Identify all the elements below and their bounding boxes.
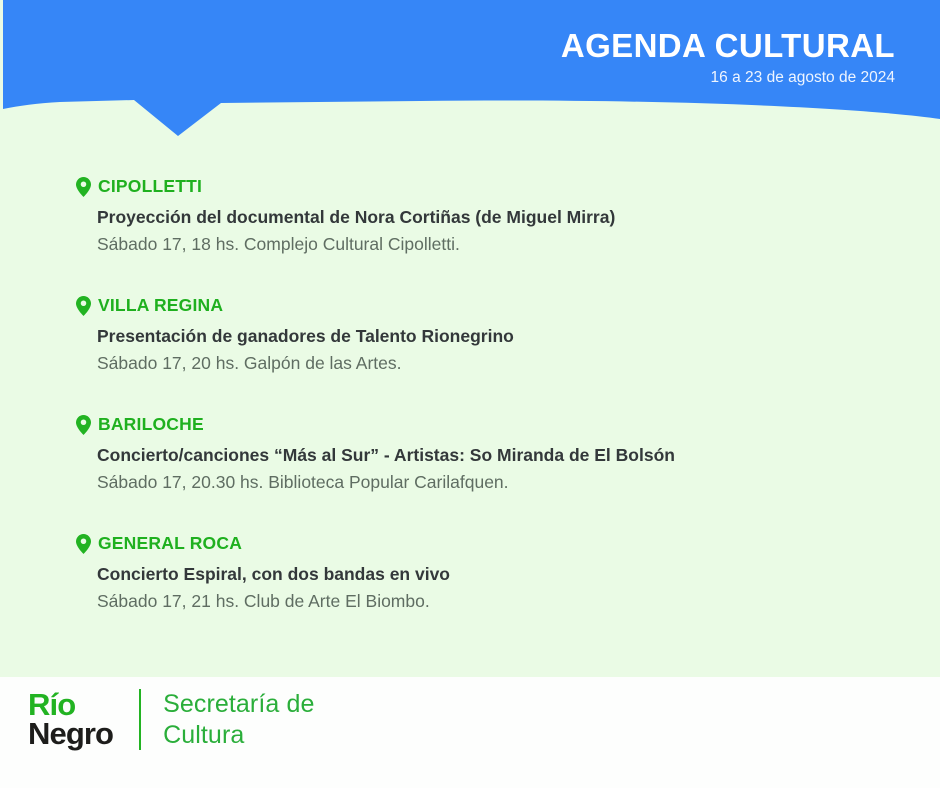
- location-pin-icon: [76, 177, 91, 197]
- poster-footer: Río Negro Secretaría de Cultura: [0, 677, 940, 788]
- event-city-row: BARILOCHE: [76, 414, 940, 436]
- events-list: CIPOLLETTI Proyección del documental de …: [0, 176, 940, 652]
- page-date-range: 16 a 23 de agosto de 2024: [561, 69, 895, 88]
- event-detail: Sábado 17, 20 hs. Galpón de las Artes.: [97, 353, 940, 374]
- secretaria-cultura-label: Secretaría de Cultura: [163, 689, 314, 750]
- event-city-name: BARILOCHE: [98, 416, 204, 434]
- event-detail: Sábado 17, 21 hs. Club de Arte El Biombo…: [97, 591, 940, 612]
- secretaria-line-1: Secretaría de: [163, 689, 314, 720]
- event-item: GENERAL ROCA Concierto Espiral, con dos …: [0, 533, 940, 652]
- event-detail: Sábado 17, 18 hs. Complejo Cultural Cipo…: [97, 234, 940, 255]
- location-pin-icon: [76, 296, 91, 316]
- event-city-row: CIPOLLETTI: [76, 176, 940, 198]
- rio-negro-logo: Río Negro: [28, 691, 113, 748]
- agenda-cultural-poster: AGENDA CULTURAL 16 a 23 de agosto de 202…: [0, 0, 940, 788]
- event-city-name: VILLA REGINA: [98, 297, 223, 315]
- poster-header: AGENDA CULTURAL 16 a 23 de agosto de 202…: [0, 0, 940, 145]
- event-title: Presentación de ganadores de Talento Rio…: [97, 326, 940, 347]
- logo-divider: [139, 689, 141, 750]
- header-text-group: AGENDA CULTURAL 16 a 23 de agosto de 202…: [561, 28, 895, 88]
- logo-negro-text: Negro: [28, 720, 113, 749]
- page-title: AGENDA CULTURAL: [561, 28, 895, 65]
- event-detail: Sábado 17, 20.30 hs. Biblioteca Popular …: [97, 472, 940, 493]
- event-item: VILLA REGINA Presentación de ganadores d…: [0, 295, 940, 414]
- event-title: Concierto Espiral, con dos bandas en viv…: [97, 564, 940, 585]
- event-item: BARILOCHE Concierto/canciones “Más al Su…: [0, 414, 940, 533]
- location-pin-icon: [76, 415, 91, 435]
- event-title: Concierto/canciones “Más al Sur” - Artis…: [97, 445, 940, 466]
- event-city-row: GENERAL ROCA: [76, 533, 940, 555]
- secretaria-line-2: Cultura: [163, 720, 314, 751]
- event-title: Proyección del documental de Nora Cortiñ…: [97, 207, 940, 228]
- event-city-row: VILLA REGINA: [76, 295, 940, 317]
- event-city-name: CIPOLLETTI: [98, 178, 202, 196]
- event-city-name: GENERAL ROCA: [98, 535, 242, 553]
- footer-logo-group: Río Negro Secretaría de Cultura: [28, 689, 314, 750]
- location-pin-icon: [76, 534, 91, 554]
- event-item: CIPOLLETTI Proyección del documental de …: [0, 176, 940, 295]
